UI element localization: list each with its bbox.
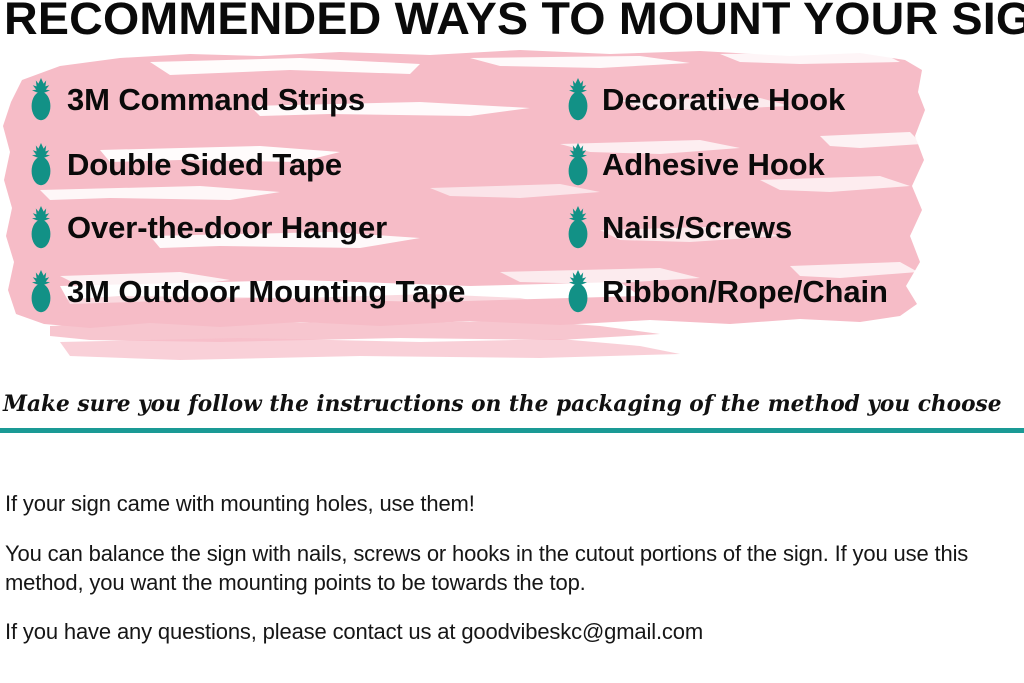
list-item: 3M Outdoor Mounting Tape (28, 266, 465, 318)
list-item: Adhesive Hook (565, 139, 825, 191)
page-title: RECOMMENDED WAYS TO MOUNT YOUR SIGN (4, 0, 1024, 42)
mounting-methods-list: 3M Command Strips Double Sided Tape Over… (0, 40, 1024, 380)
instructions-note: Make sure you follow the instructions on… (3, 390, 1006, 418)
list-item: Over-the-door Hanger (28, 202, 387, 254)
list-item: Decorative Hook (565, 74, 845, 126)
list-item-label: 3M Command Strips (67, 83, 365, 117)
pineapple-icon (28, 270, 54, 314)
pineapple-icon (565, 78, 591, 122)
pineapple-icon (28, 206, 54, 250)
list-item: Ribbon/Rope/Chain (565, 266, 888, 318)
list-item-label: 3M Outdoor Mounting Tape (67, 275, 465, 309)
body-paragraph-1: If your sign came with mounting holes, u… (5, 489, 1005, 518)
list-item: 3M Command Strips (28, 74, 365, 126)
list-item: Double Sided Tape (28, 139, 342, 191)
list-item-label: Adhesive Hook (602, 148, 825, 182)
pineapple-icon (565, 143, 591, 187)
list-item-label: Nails/Screws (602, 211, 792, 245)
list-item-label: Ribbon/Rope/Chain (602, 275, 888, 309)
list-item: Nails/Screws (565, 202, 792, 254)
body-paragraph-3: If you have any questions, please contac… (5, 617, 1005, 646)
list-item-label: Double Sided Tape (67, 148, 342, 182)
pineapple-icon (565, 206, 591, 250)
pineapple-icon (28, 78, 54, 122)
pineapple-icon (28, 143, 54, 187)
list-item-label: Over-the-door Hanger (67, 211, 387, 245)
body-paragraph-2: You can balance the sign with nails, scr… (5, 539, 1007, 597)
teal-divider (0, 428, 1024, 433)
list-item-label: Decorative Hook (602, 83, 845, 117)
pineapple-icon (565, 270, 591, 314)
